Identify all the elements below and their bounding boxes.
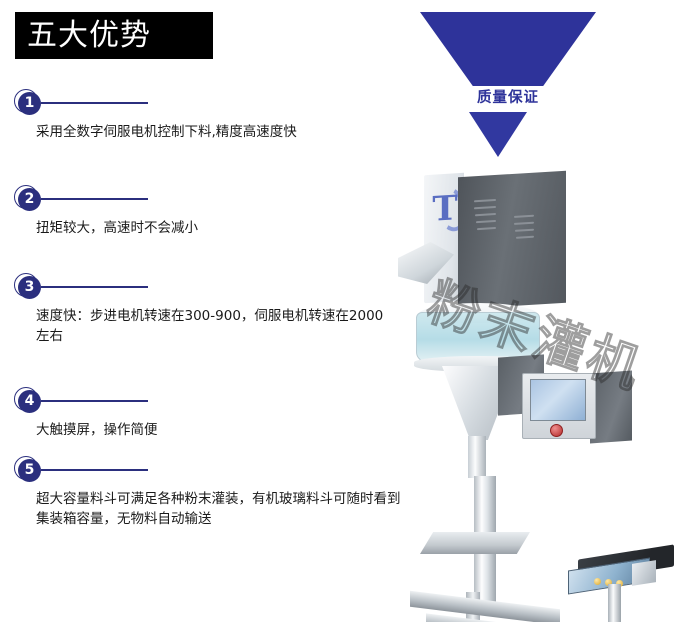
vent-slot-icon	[475, 213, 496, 216]
weighing-scale-post	[608, 584, 621, 622]
feature-marker-2: 2	[0, 188, 400, 212]
badge-rule	[41, 198, 148, 200]
funnel-upper-shape-icon	[420, 12, 596, 86]
feature-text-5: 超大容量料斗可满足各种粉末灌装，有机玻璃料斗可随时看到集装箱容量，无物料自动输送	[36, 489, 404, 529]
number-badge-5: 5	[18, 459, 41, 482]
vent-slot-icon	[514, 215, 534, 218]
feature-text-3: 速度快：步进电机转速在300-900，伺服电机转速在2000左右	[36, 306, 388, 346]
emergency-stop-icon[interactable]	[550, 424, 563, 437]
vent-slot-icon	[516, 236, 534, 239]
advantages-page: 五大优势 1 采用全数字伺服电机控制下料,精度高速度快 2 扭矩较大，高速时不会…	[0, 0, 690, 622]
badge-number: 4	[18, 390, 41, 413]
badge-rule	[41, 469, 148, 471]
funnel-lower-arrow-icon	[469, 112, 527, 157]
feature-text-2: 扭矩较大，高速时不会减小	[36, 218, 396, 238]
vent-slot-icon	[477, 227, 496, 230]
machine-discharge-neck	[468, 436, 486, 478]
feature-marker-1: 1	[0, 92, 400, 116]
vent-slot-icon	[476, 220, 496, 223]
feature-text-4: 大触摸屏，操作简便	[36, 420, 396, 440]
page-title-block: 五大优势	[15, 12, 213, 59]
badge-number: 2	[18, 188, 41, 211]
vent-slot-icon	[515, 229, 534, 232]
feature-item-3: 3 速度快：步进电机转速在300-900，伺服电机转速在2000左右	[0, 276, 400, 300]
badge-number: 1	[18, 92, 41, 115]
machine-touch-screen[interactable]	[530, 379, 586, 421]
feature-marker-4: 4	[0, 390, 400, 414]
feature-item-4: 4 大触摸屏，操作简便	[0, 390, 400, 414]
number-badge-4: 4	[18, 390, 41, 413]
feature-item-2: 2 扭矩较大，高速时不会减小	[0, 188, 400, 212]
vent-slot-icon	[474, 206, 496, 209]
feature-marker-3: 3	[0, 276, 400, 300]
number-badge-2: 2	[18, 188, 41, 211]
machine-glass-hopper	[416, 312, 540, 362]
vent-slot-icon	[514, 222, 534, 225]
badge-rule	[41, 102, 148, 104]
quality-assurance-funnel: 质量保证	[420, 12, 596, 158]
badge-number: 5	[18, 459, 41, 482]
number-badge-3: 3	[18, 276, 41, 299]
page-title: 五大优势	[27, 21, 151, 51]
vent-slot-icon	[474, 199, 496, 202]
badge-rule	[41, 400, 148, 402]
badge-rule	[41, 286, 148, 288]
number-badge-1: 1	[18, 92, 41, 115]
brand-letter: T	[430, 187, 460, 231]
machine-work-shelf	[420, 532, 530, 554]
machine-control-cabinet	[458, 171, 566, 310]
machine-side-panel-right	[590, 371, 632, 444]
feature-item-1: 1 采用全数字伺服电机控制下料,精度高速度快	[0, 92, 400, 116]
badge-number: 3	[18, 276, 41, 299]
feature-item-5: 5 超大容量料斗可满足各种粉末灌装，有机玻璃料斗可随时看到集装箱容量，无物料自动…	[0, 459, 400, 483]
feature-marker-5: 5	[0, 459, 400, 483]
weighing-scale-keypad[interactable]	[632, 560, 656, 586]
funnel-label: 质量保证	[420, 88, 596, 108]
scale-button-icon[interactable]	[594, 578, 601, 585]
packaging-machine-photo: T	[400, 160, 690, 600]
feature-text-1: 采用全数字伺服电机控制下料,精度高速度快	[36, 122, 396, 142]
